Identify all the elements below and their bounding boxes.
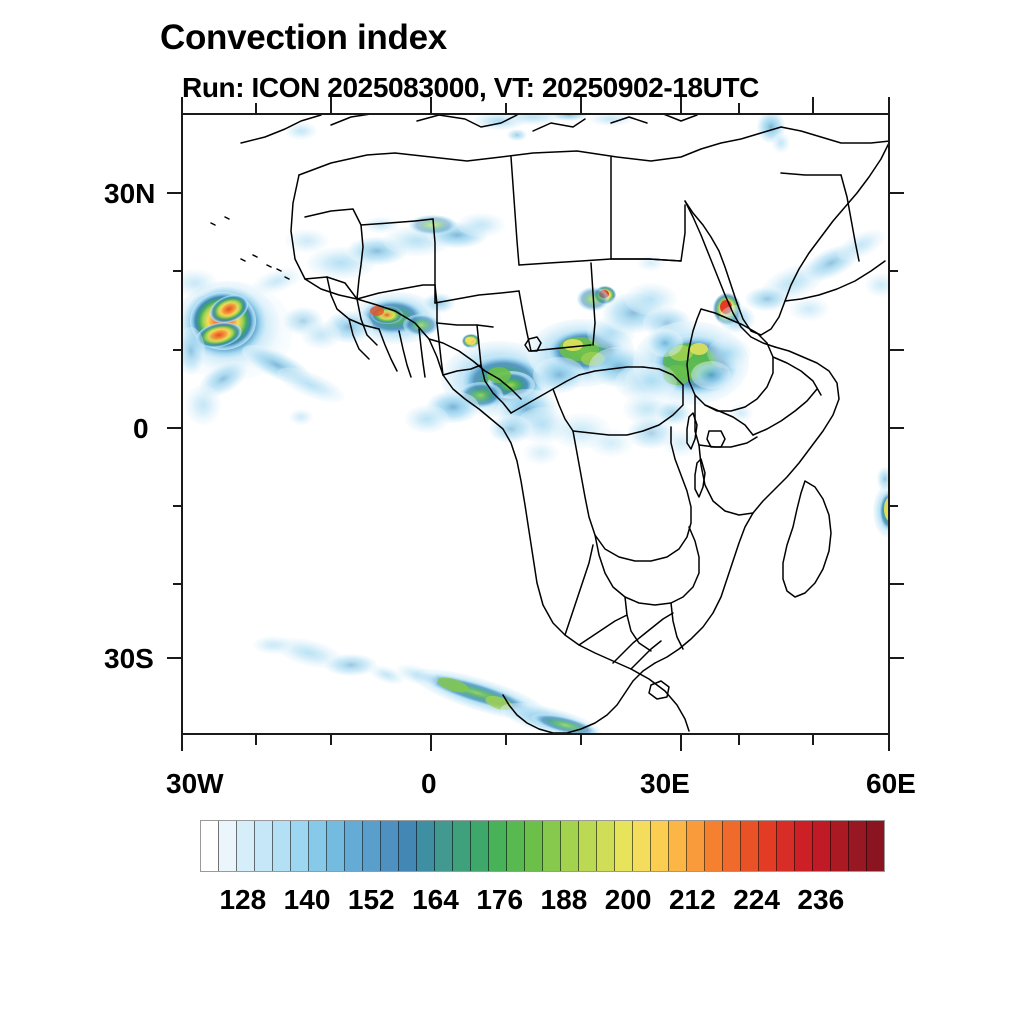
colorbar-cell-19 [543, 821, 561, 871]
colorbar-cell-28 [705, 821, 723, 871]
xtick-40E [738, 735, 740, 745]
colorbar-cell-12 [417, 821, 435, 871]
colorbar-cell-9 [363, 821, 381, 871]
colorbar-label-164: 164 [412, 884, 459, 916]
colorbar-cell-7 [327, 821, 345, 871]
xtick-top-0 [430, 97, 432, 113]
colorbar-cell-2 [237, 821, 255, 871]
ytick-10N [173, 349, 183, 351]
xtick-10E [505, 735, 507, 745]
colorbar-label-176: 176 [476, 884, 523, 916]
xlabel-60E: 60E [866, 768, 916, 800]
ytick-20S [173, 583, 183, 585]
ytick-10S [173, 505, 183, 507]
xtick-top-30E [680, 97, 682, 113]
ytick-30S [167, 657, 183, 659]
colorbar-cell-33 [795, 821, 813, 871]
colorbar-cell-6 [309, 821, 327, 871]
colorbar-cell-14 [453, 821, 471, 871]
colorbar-cell-30 [741, 821, 759, 871]
colorbar-label-140: 140 [284, 884, 331, 916]
colorbar-cell-35 [831, 821, 849, 871]
ytick-30N [167, 192, 183, 194]
colorbar-label-128: 128 [219, 884, 266, 916]
colorbar-cell-21 [579, 821, 597, 871]
colorbar-cell-24 [633, 821, 651, 871]
colorbar-cell-3 [255, 821, 273, 871]
colorbar-cell-18 [525, 821, 543, 871]
ylabel-30S: 30S [104, 643, 154, 675]
colorbar-label-200: 200 [605, 884, 652, 916]
xtick-top-40E [738, 103, 740, 113]
colorbar-label-212: 212 [669, 884, 716, 916]
colorbar-cell-16 [489, 821, 507, 871]
xtick-0 [430, 735, 432, 751]
page-title: Convection index [160, 18, 447, 58]
colorbar-cell-34 [813, 821, 831, 871]
colorbar-cell-31 [759, 821, 777, 871]
colorbar-cell-8 [345, 821, 363, 871]
ylabel-30N: 30N [104, 178, 155, 210]
colorbar-cell-26 [669, 821, 687, 871]
ytick-right-10N [888, 349, 904, 351]
colorbar-cell-29 [723, 821, 741, 871]
xtick-50E [812, 735, 814, 745]
ytick-right-30N [888, 192, 904, 194]
colorbar-cell-10 [381, 821, 399, 871]
colorbar-cell-27 [687, 821, 705, 871]
xlabel-30E: 30E [640, 768, 690, 800]
xtick-10W [330, 735, 332, 745]
ytick-20N [173, 270, 183, 272]
colorbar-cell-32 [777, 821, 795, 871]
xtick-20W [255, 735, 257, 745]
colorbar-cell-23 [615, 821, 633, 871]
colorbar-cell-1 [219, 821, 237, 871]
ytick-right-20S [888, 583, 904, 585]
ytick-right-20N [888, 270, 898, 272]
map-plot-area [181, 113, 890, 735]
colorbar-label-152: 152 [348, 884, 395, 916]
colorbar-cell-17 [507, 821, 525, 871]
colorbar-label-188: 188 [541, 884, 588, 916]
colorbar-label-236: 236 [797, 884, 844, 916]
ytick-right-0 [888, 427, 904, 429]
colorbar [200, 820, 885, 872]
colorbar-cell-36 [849, 821, 867, 871]
xtick-top-20W [255, 103, 257, 113]
colorbar-cell-20 [561, 821, 579, 871]
xtick-top-20E [580, 97, 582, 113]
ylabel-0: 0 [133, 413, 149, 445]
xtick-30W [181, 735, 183, 751]
colorbar-cell-37 [867, 821, 884, 871]
xlabel-0: 0 [421, 768, 437, 800]
convection-index-figure: Convection index Run: ICON 2025083000, V… [0, 0, 1024, 1024]
ytick-right-30S [888, 657, 904, 659]
ytick-0 [167, 427, 183, 429]
colorbar-label-224: 224 [733, 884, 780, 916]
xtick-30E [680, 735, 682, 751]
colorbar-cell-22 [597, 821, 615, 871]
xtick-20E [580, 735, 582, 745]
colorbar-cell-5 [291, 821, 309, 871]
xtick-top-30W [181, 97, 183, 113]
xlabel-30W: 30W [166, 768, 224, 800]
map-svg [181, 113, 890, 735]
colorbar-cell-4 [273, 821, 291, 871]
xtick-top-10W [330, 97, 332, 113]
xtick-top-10E [505, 103, 507, 113]
subtitle-run-validtime: Run: ICON 2025083000, VT: 20250902-18UTC [182, 72, 759, 104]
ytick-right-10S [888, 505, 898, 507]
xtick-top-50E [812, 97, 814, 113]
colorbar-cell-11 [399, 821, 417, 871]
xtick-top-60E [888, 97, 890, 113]
colorbar-cell-25 [651, 821, 669, 871]
colorbar-cell-13 [435, 821, 453, 871]
colorbar-cell-15 [471, 821, 489, 871]
xtick-60E [888, 735, 890, 751]
colorbar-cell-0 [201, 821, 219, 871]
